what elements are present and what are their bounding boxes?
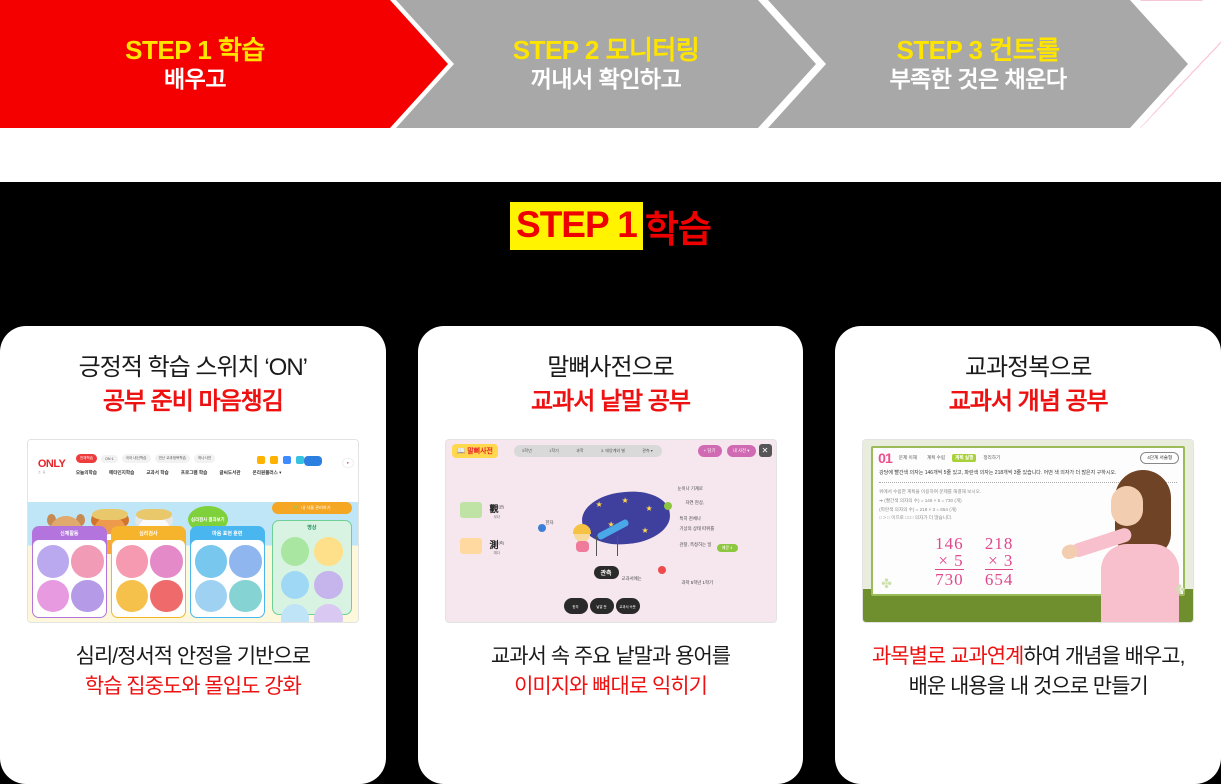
card-3-caption-rest: 하여 개념을 배우고, [1023, 645, 1184, 668]
problem-number: 01 [878, 451, 892, 465]
nav-item-0[interactable]: 오늘의학습 [76, 470, 97, 476]
only-logo: ONLY 초등 [38, 458, 66, 474]
meditation-icon-3[interactable] [314, 571, 343, 600]
example-count-tag[interactable]: 예문 4 [717, 544, 738, 552]
activity-panel-psych[interactable]: 심리검사 [111, 526, 186, 618]
definition-4: 관찰, 측정하는 일 [680, 542, 712, 548]
page-title: STEP 1 학습 [0, 196, 1221, 256]
card-1-caption-line2: 학습 집중도와 몰입도 강화 [76, 672, 310, 702]
meditation-title: 명상 [273, 521, 351, 531]
feature-card-2[interactable]: 말뼈사전으로 교과서 낱말 공부 📖 말뼈사전 5학년 1학기 과학 3. 태양… [418, 326, 804, 784]
bottom-node-group: 한자 낱말 뜻 교과서 속뜻 [564, 598, 640, 614]
card-3-caption: 과목별로 교과연계하여 개념을 배우고, 배운 내용을 내 것으로 만들기 [872, 642, 1184, 702]
panel-0-icons [33, 540, 106, 617]
panel-0-icon-2[interactable] [37, 580, 70, 613]
star-icon-1: ★ [596, 500, 603, 509]
nav-item-3[interactable]: 프로그램 학습 [181, 470, 208, 476]
card-3-caption-line2: 배운 내용을 내 것으로 만들기 [872, 672, 1184, 702]
dictionary-filter-bar[interactable]: 5학년 1학기 과학 3. 태양계와 별 관측 ▾ [514, 445, 662, 457]
tab-review[interactable]: 정리하기 [980, 454, 1003, 462]
step-2-line1: STEP 2 모니터링 [513, 35, 700, 66]
teacher-illustration [1083, 470, 1187, 622]
my-dictionary-button[interactable]: 내 사전 ▾ [727, 445, 756, 457]
page-title-rest: 학습 [643, 199, 711, 253]
tripod-icon [596, 536, 618, 556]
nav-item-5[interactable]: 온리원플러스 ▾ [253, 470, 282, 476]
chip-3[interactable]: 연산 교과정복학습 [155, 454, 190, 463]
filter-unit[interactable]: 3. 태양계와 별 [601, 448, 625, 454]
card-2-caption: 교과서 속 주요 낱말과 용어를 이미지와 뼈대로 익히기 [491, 642, 730, 702]
hanja-node-2[interactable]: 測(측) 재다 [490, 538, 505, 556]
card-2-caption-line2: 이미지와 뼈대로 익히기 [491, 672, 730, 702]
step-1-line1: STEP 1 학습 [125, 35, 265, 66]
panel-1-icon-3[interactable] [150, 580, 183, 613]
card-3-title: 교과정복으로 [965, 352, 1091, 384]
step-arrow-2[interactable]: STEP 2 모니터링 꺼내서 확인하고 [396, 0, 816, 128]
branch-label-left: 한자 [546, 520, 554, 526]
star-icon-3: ★ [646, 504, 653, 513]
panel-1-icon-2[interactable] [116, 580, 149, 613]
app-chip-row: 전체학습 ON·1 국어 내신학습 연산 교과정복학습 하나사전 [76, 454, 215, 463]
bottom-node-1[interactable]: 낱말 뜻 [590, 598, 614, 614]
feature-card-list: 긍정적 학습 스위치 ‘ON’ 공부 준비 마음챙김 ONLY 초등 전체학습 … [0, 326, 1221, 784]
branch-node-textbook[interactable] [658, 566, 666, 574]
step-arrow-1[interactable]: STEP 1 학습 배우고 [0, 0, 448, 128]
panel-1-icon-0[interactable] [116, 545, 149, 578]
card-2-caption-line1: 교과서 속 주요 낱말과 용어를 [491, 642, 730, 672]
step-arrow-bar: STEP 1 학습 배우고 STEP 2 모니터링 꺼내서 확인하고 STEP … [0, 0, 1221, 128]
branch-node-hanja[interactable] [538, 524, 546, 532]
meditation-panel: 명상 [272, 520, 352, 615]
step-3-line1: STEP 3 컨트롤 [896, 35, 1059, 66]
source-label: 과학 5학년 1학기 [682, 580, 714, 586]
feature-card-3[interactable]: 교과정복으로 교과서 개념 공부 01 문제 이해 계획 수립 계획 실행 정리… [835, 326, 1221, 784]
calc-2: 218 × 3 654 [985, 535, 1014, 588]
gear-icon[interactable] [296, 456, 304, 464]
book-icon: 📖 [457, 447, 466, 455]
panel-0-icon-0[interactable] [37, 545, 70, 578]
coin-icon[interactable] [270, 456, 278, 464]
meditation-icon-0[interactable] [281, 537, 310, 566]
app-banner-badge[interactable] [304, 456, 322, 466]
nav-item-4[interactable]: 글씨도서관 [219, 470, 240, 476]
filter-word[interactable]: 관측 ▾ [642, 448, 652, 454]
card-3-caption-red: 과목별로 교과연계 [872, 645, 1023, 668]
branch-label-right: 교과서에는 [622, 576, 642, 582]
panel-2-icon-2[interactable] [195, 580, 228, 613]
dictionary-logo: 📖 말뼈사전 [452, 444, 498, 458]
meditation-icon-1[interactable] [314, 537, 343, 566]
card-3-caption-line1: 과목별로 교과연계하여 개념을 배우고, [872, 642, 1184, 672]
card-1-screenshot: ONLY 초등 전체학습 ON·1 국어 내신학습 연산 교과정복학습 하나사전… [28, 440, 358, 622]
feature-card-1[interactable]: 긍정적 학습 스위치 ‘ON’ 공부 준비 마음챙김 ONLY 초등 전체학습 … [0, 326, 386, 784]
card-2-screenshot: 📖 말뼈사전 5학년 1학기 과학 3. 태양계와 별 관측 ▾ + 담기 내 … [446, 440, 776, 622]
tab-execute[interactable]: 계획 실행 [952, 454, 976, 462]
nav-item-2[interactable]: 교과서 학습 [146, 470, 168, 476]
mindcare-badge[interactable]: ● [342, 458, 354, 468]
step-1-line2: 배우고 [164, 66, 226, 94]
activity-panel-emotion[interactable]: 마음 표현 훈련 [190, 526, 265, 618]
bell-icon[interactable] [257, 456, 265, 464]
card-1-caption: 심리/정서적 안정을 기반으로 학습 집중도와 몰입도 강화 [76, 642, 310, 702]
step-3-line2: 부족한 것은 채운다 [889, 66, 1066, 94]
filter-subject[interactable]: 과학 [576, 448, 583, 454]
branch-node-meaning[interactable] [664, 502, 672, 510]
only-logo-sub: 초등 [38, 470, 66, 474]
leaf-icon: 🌱 [293, 505, 298, 511]
board-header: 01 문제 이해 계획 수립 계획 실행 정리하기 [873, 448, 1183, 465]
panel-2-title: 마음 표현 훈련 [191, 527, 264, 539]
panel-0-icon-1[interactable] [71, 545, 104, 578]
step-badge[interactable]: 4단계 서술형 [1140, 452, 1179, 464]
tab-plan[interactable]: 계획 수립 [924, 454, 948, 462]
panel-2-icon-0[interactable] [195, 545, 228, 578]
hanja-node-1[interactable]: 觀(관) 보다 [490, 502, 505, 520]
definition-3: 기상의 상태 따위를 [680, 526, 715, 532]
definition-0: 눈이나 기계로 [678, 486, 703, 492]
card-1-caption-line1: 심리/정서적 안정을 기반으로 [76, 642, 310, 672]
star-icon-5: ★ [642, 526, 649, 535]
meditation-icon-4[interactable] [281, 604, 310, 622]
step-2-line2: 꺼내서 확인하고 [531, 66, 682, 94]
close-icon[interactable]: ✕ [759, 444, 772, 457]
card-2-title: 말뼈사전으로 [547, 352, 673, 384]
hanja-thumb-1 [460, 502, 482, 518]
step-arrow-3[interactable]: STEP 3 컨트롤 부족한 것은 채운다 [768, 0, 1188, 128]
hanja-thumb-2 [460, 538, 482, 554]
definition-1: 자연 현상, [686, 500, 705, 506]
add-word-button[interactable]: + 담기 [698, 445, 722, 457]
star-icon-2: ★ [622, 496, 629, 505]
butterfly-icon-1: ✤ [881, 576, 892, 592]
calc-1: 146 × 5 730 [935, 535, 964, 588]
card-1-subtitle: 공부 준비 마음챙김 [103, 386, 283, 418]
card-3-subtitle: 교과서 개념 공부 [949, 386, 1108, 418]
chip-4[interactable]: 하나사전 [194, 454, 215, 463]
meditation-icon-5[interactable] [314, 604, 343, 622]
handwritten-calculations: 146 × 5 730 218 × 3 654 [935, 535, 1029, 588]
bottom-node-0[interactable]: 한자 [564, 598, 588, 614]
page-title-highlight: STEP 1 [510, 202, 643, 250]
panel-1-icon-1[interactable] [150, 545, 183, 578]
browser-topbar [28, 440, 358, 454]
chip-1[interactable]: ON·1 [101, 455, 118, 463]
panel-2-icon-1[interactable] [229, 545, 262, 578]
mail-icon[interactable] [283, 456, 291, 464]
meditation-icon-2[interactable] [281, 571, 310, 600]
bottom-node-2[interactable]: 교과서 속뜻 [616, 598, 640, 614]
definition-2: 특히 천체나 [680, 516, 701, 522]
app-icon-row [257, 456, 304, 464]
panel-1-icons [112, 540, 185, 617]
panel-2-icons [191, 540, 264, 617]
plant-care-button[interactable]: 🌱 내 식물 관리하기 [272, 502, 352, 514]
card-3-screenshot: 01 문제 이해 계획 수립 계획 실행 정리하기 4단계 서술형 강당에 빨간… [863, 440, 1193, 622]
app-nav-row: 오늘의학습 메타인지학습 교과서 학습 프로그램 학습 글씨도서관 온리원플러스… [76, 470, 282, 476]
panel-0-title: 신체활동 [33, 527, 106, 539]
card-1-title: 긍정적 학습 스위치 ‘ON’ [79, 352, 307, 384]
filter-grade[interactable]: 5학년 [522, 448, 532, 454]
butterfly-icon-2: ✤ [1174, 582, 1185, 598]
chip-2[interactable]: 국어 내신학습 [122, 454, 151, 463]
panel-1-title: 심리검사 [112, 527, 185, 539]
meditation-grid [273, 531, 351, 622]
card-2-subtitle: 교과서 낱말 공부 [531, 386, 690, 418]
panel-0-icon-3[interactable] [71, 580, 104, 613]
panel-2-icon-3[interactable] [229, 580, 262, 613]
activity-panel-list: 신체활동 심리검사 [32, 526, 265, 618]
filter-term[interactable]: 1학기 [549, 448, 559, 454]
tab-understand[interactable]: 문제 이해 [896, 454, 920, 462]
child-illustration [574, 526, 596, 552]
nav-item-1[interactable]: 메타인지학습 [109, 470, 134, 476]
center-word-node[interactable]: 관측 [594, 566, 619, 579]
chip-0[interactable]: 전체학습 [76, 454, 97, 463]
activity-panel-physical[interactable]: 신체활동 [32, 526, 107, 618]
